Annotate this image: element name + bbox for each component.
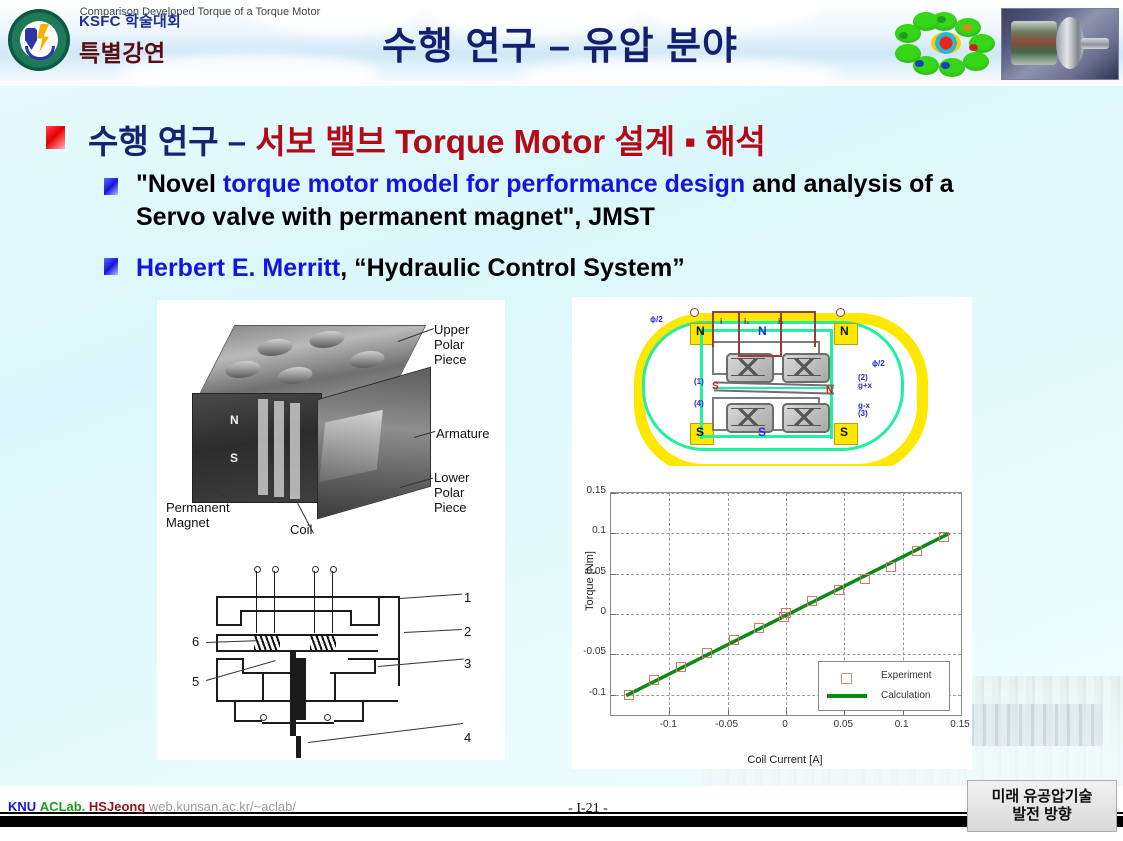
- chart-data-point: [702, 648, 712, 658]
- pole-label-n: N: [696, 324, 705, 338]
- bullet-text-1: "Novel torque motor model for performanc…: [136, 168, 1016, 233]
- chart-data-point: [754, 623, 764, 633]
- pole-label-s: S: [696, 425, 704, 439]
- chart-data-point: [860, 574, 870, 584]
- chart-data-point: [912, 546, 922, 556]
- photo-south-label: S: [230, 451, 238, 465]
- terminal-right: [836, 308, 845, 317]
- bullet1-black-open: "Novel: [136, 170, 223, 198]
- legend-marker-experiment: [841, 673, 852, 684]
- chart-data-point: [729, 635, 739, 645]
- current-label-i1: i₁: [744, 317, 750, 326]
- heading-bullet-icon: [46, 126, 65, 149]
- label-upper-polar-piece: Upper Polar Piece: [434, 323, 469, 368]
- slide: KSFC 학술대회 특별강연 수행 연구 – 유압 분야 수행 연구 – 서보 …: [0, 0, 1123, 841]
- coil-winding: [726, 403, 774, 433]
- bullet2-black-rest: , “Hydraulic Control System”: [340, 254, 685, 282]
- legend-label-calculation: Calculation: [881, 690, 930, 701]
- valve-callout-6: 6: [192, 634, 199, 649]
- chart-data-point: [807, 596, 817, 606]
- photo-north-label: N: [230, 413, 239, 427]
- valve-callout-2: 2: [464, 624, 471, 639]
- label-lower-polar-piece: Lower Polar Piece: [434, 471, 469, 516]
- chart-gridline-vertical: [961, 493, 962, 715]
- torque-motor-cutaway-photo: N S Upper Polar Piece Armature Lower Pol…: [162, 305, 500, 555]
- badge-line1: 미래 유공압기술: [992, 788, 1093, 806]
- flux-label-left: ϕ/2: [650, 315, 663, 324]
- legend-marker-calculation: [827, 694, 867, 698]
- chart-x-tick-label: 0: [760, 719, 810, 730]
- heading-red-text: 서보 밸브 Torque Motor 설계 ▪ 해석: [255, 123, 766, 160]
- chart-y-tick-label: 0.1: [566, 525, 606, 536]
- armature-pole-n: N: [826, 385, 833, 396]
- node-label-4: (4): [694, 399, 704, 408]
- bullet2-blue-text: Herbert E. Merritt: [136, 254, 340, 282]
- gap-label-plus: g+x: [858, 381, 872, 390]
- pole-label-n-center: N: [758, 324, 767, 338]
- chart-data-point: [649, 675, 659, 685]
- valve-callout-1: 1: [464, 590, 471, 605]
- current-label-i2: i₂: [778, 317, 784, 326]
- chart-y-tick-label: -0.1: [566, 687, 606, 698]
- green-flower-icon: [893, 10, 998, 76]
- valve-callout-3: 3: [464, 656, 471, 671]
- chart-x-tick-label: 0.1: [877, 719, 927, 730]
- chart-data-point: [676, 662, 686, 672]
- torque-motor-header-photo: [1001, 8, 1119, 80]
- bullet-text-2: Herbert E. Merritt, “Hydraulic Control S…: [136, 252, 1016, 285]
- coil-winding: [782, 403, 830, 433]
- footer-author: HSJeong: [89, 799, 145, 814]
- org-name-line2: 특별강연: [79, 34, 166, 68]
- magnetic-circuit-diagram: N N N S S S S N ϕ/2 ϕ/2 i i₁ i₂ (1) (4) …: [572, 297, 972, 467]
- footer-credits: KNU ACLab. HSJeong web.kunsan.ac.kr/~acl…: [8, 799, 296, 814]
- badge-line2: 발전 방향: [1012, 806, 1071, 824]
- chart-x-tick-label: -0.1: [643, 719, 693, 730]
- chart-data-point: [939, 532, 949, 542]
- bullet-icon-1: [104, 178, 118, 195]
- node-label-3: (3): [858, 409, 868, 418]
- bullet1-blue-text: torque motor model for performance desig…: [223, 170, 745, 198]
- footer-aclab: ACLab.: [40, 799, 86, 814]
- footer-knu: KNU: [8, 799, 36, 814]
- label-armature: Armature: [436, 427, 489, 442]
- chart-title: Comparison Developed Torque of a Torque …: [0, 6, 400, 18]
- footer-url[interactable]: web.kunsan.ac.kr/~aclab/: [149, 799, 296, 814]
- corner-badge: 미래 유공압기술 발전 방향: [967, 780, 1117, 832]
- node-label-1: (1): [694, 377, 704, 386]
- chart-y-tick-label: 0.15: [566, 485, 606, 496]
- chart-y-axis-label: Torque [Nm]: [584, 551, 596, 611]
- legend-label-experiment: Experiment: [881, 670, 932, 681]
- slide-title: 수행 연구 – 유압 분야: [300, 15, 820, 70]
- valve-callout-4: 4: [464, 730, 471, 745]
- heading-navy-text: 수행 연구 –: [88, 123, 255, 160]
- chart-data-point: [834, 585, 844, 595]
- valve-callout-5: 5: [192, 674, 199, 689]
- chart-x-tick-label: -0.05: [702, 719, 752, 730]
- chart-data-point: [624, 690, 634, 700]
- coil-winding: [782, 353, 830, 383]
- chart-x-tick-label: 0.15: [935, 719, 985, 730]
- chart-x-tick-label: 0.05: [818, 719, 868, 730]
- chart-data-point: [886, 562, 896, 572]
- chart-legend: Experiment Calculation: [818, 661, 950, 711]
- terminal-left: [690, 308, 699, 317]
- pole-label-s-center: S: [758, 425, 766, 439]
- label-coil: Coil: [290, 523, 312, 538]
- coil-winding: [726, 353, 774, 383]
- label-permanent-magnet: Permanent Magnet: [166, 501, 230, 531]
- flux-label-right: ϕ/2: [872, 359, 885, 368]
- chart-y-tick-label: -0.05: [566, 646, 606, 657]
- current-label-total: i: [720, 317, 722, 326]
- armature-pole-s: S: [712, 381, 719, 392]
- servo-valve-schematic: 1 2 3 4 5 6: [162, 558, 500, 756]
- chart-data-point: [781, 608, 791, 618]
- section-heading: 수행 연구 – 서보 밸브 Torque Motor 설계 ▪ 해석: [88, 115, 766, 163]
- page-number: - I-21 -: [508, 801, 668, 817]
- chart-x-axis-label: Coil Current [A]: [610, 754, 960, 766]
- footer-black-bar: [0, 816, 1123, 827]
- left-figure-column: N S Upper Polar Piece Armature Lower Pol…: [157, 300, 505, 760]
- pole-label-s-right: S: [840, 425, 848, 439]
- bullet-icon-2: [104, 258, 118, 275]
- pole-label-n-right: N: [840, 324, 849, 338]
